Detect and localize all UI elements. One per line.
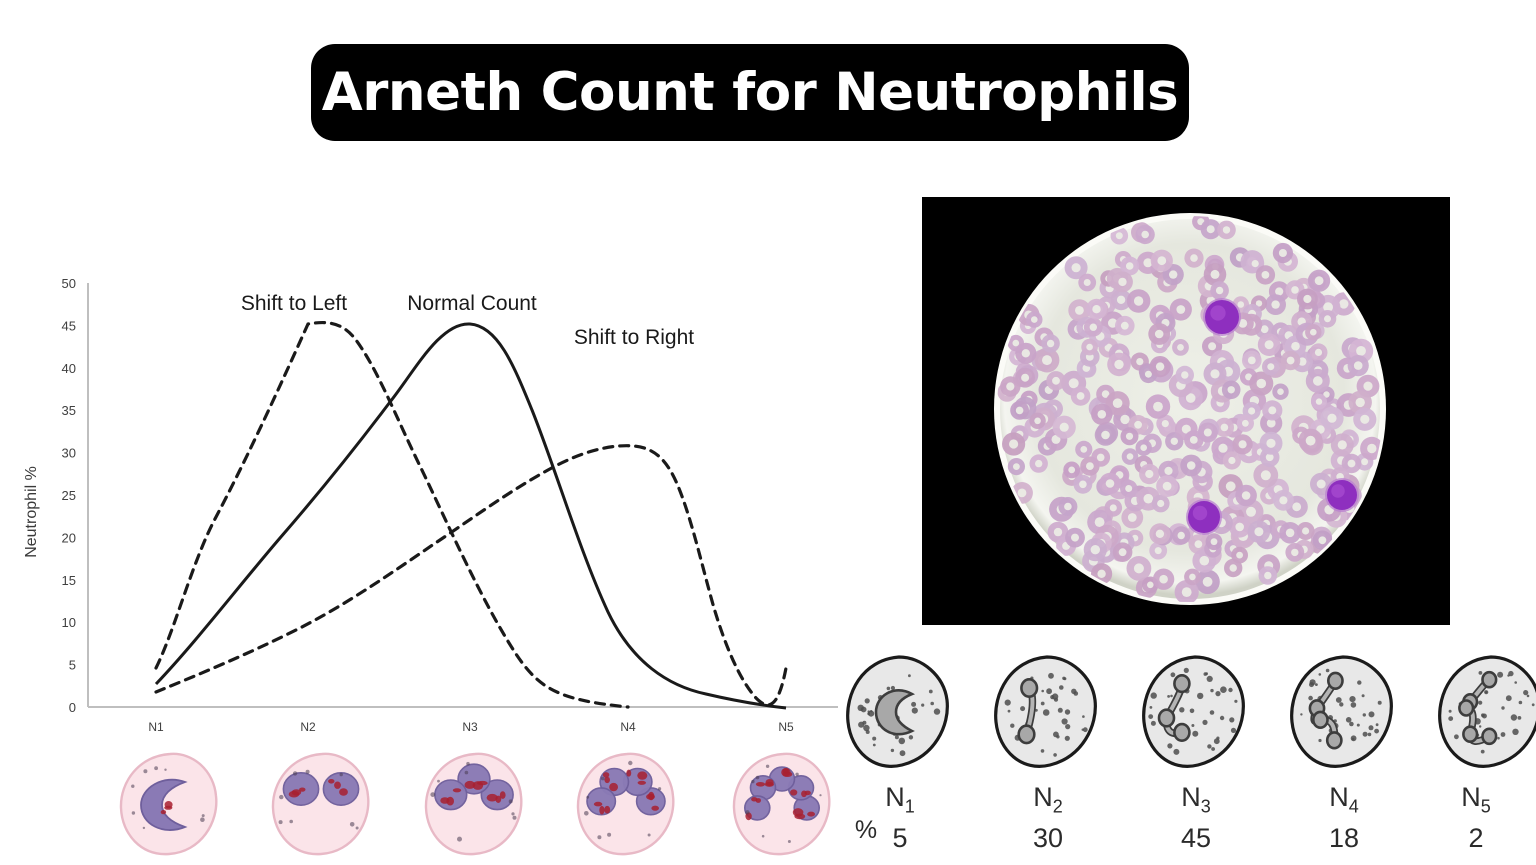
curve-shift-to-left <box>156 323 628 707</box>
gray-neutrophil-n5 <box>1432 652 1536 774</box>
micrograph-svg <box>922 197 1450 625</box>
red-blood-cell <box>1053 416 1076 439</box>
red-blood-cell <box>1107 353 1131 377</box>
red-blood-cell <box>1272 384 1288 400</box>
chart-svg: 05101520253035404550 N1N2N3N4N5 Neutroph… <box>0 262 860 732</box>
y-tick-label: 50 <box>62 276 76 291</box>
colored-neutrophil-row <box>100 748 840 860</box>
curve-label-1: Shift to Left <box>241 292 347 315</box>
gray-neutrophil-row <box>840 652 1536 780</box>
red-blood-cell <box>1319 310 1337 328</box>
y-tick-label: 15 <box>62 573 76 588</box>
red-blood-cell <box>1058 497 1077 516</box>
red-blood-cell <box>1172 526 1190 544</box>
title-banner: Arneth Count for Neutrophils <box>311 44 1189 141</box>
colored-neutrophil-svg <box>420 748 530 860</box>
arneth-count-chart: 05101520253035404550 N1N2N3N4N5 Neutroph… <box>0 262 860 732</box>
red-blood-cell <box>1210 281 1229 300</box>
red-blood-cell <box>1113 542 1133 562</box>
gray-neutrophil-svg <box>988 652 1106 774</box>
gray-neutrophil-svg <box>1136 652 1254 774</box>
red-blood-cell <box>1091 404 1112 425</box>
red-blood-cell <box>1242 351 1262 371</box>
y-tick-label: 10 <box>62 615 76 630</box>
red-blood-cell <box>1148 323 1170 345</box>
x-category-label: N1 <box>148 720 164 732</box>
red-blood-cell <box>1248 521 1270 543</box>
red-blood-cell <box>1000 376 1020 396</box>
percent-column-value: 30 <box>988 821 1108 855</box>
red-blood-cell <box>1265 294 1286 315</box>
y-tick-label: 45 <box>62 318 76 333</box>
red-blood-cell <box>1170 298 1192 320</box>
red-blood-cell <box>1237 415 1254 432</box>
red-blood-cell <box>1139 464 1159 484</box>
x-category-labels: N1N2N3N4N5 <box>148 720 794 732</box>
percent-column-value: 18 <box>1284 821 1404 855</box>
red-blood-cell <box>1348 355 1369 376</box>
red-blood-cell <box>1030 454 1048 472</box>
page-title: Arneth Count for Neutrophils <box>322 62 1178 123</box>
x-category-label: N4 <box>620 720 636 732</box>
red-blood-cell <box>1084 318 1103 337</box>
red-blood-cell <box>1259 566 1278 585</box>
red-blood-cell <box>1256 265 1275 284</box>
y-axis-title: Neutrophil % <box>23 466 40 558</box>
red-blood-cell <box>1099 473 1120 494</box>
red-blood-cell <box>1285 543 1304 562</box>
gray-neutrophil-svg <box>1432 652 1536 774</box>
red-blood-cell <box>1078 274 1096 292</box>
y-tick-label: 20 <box>62 530 76 545</box>
red-blood-cell <box>1008 458 1025 475</box>
red-blood-cell <box>1281 351 1300 370</box>
curve-label-2: Normal Count <box>407 292 537 315</box>
red-blood-cell <box>1121 427 1139 445</box>
red-blood-cell <box>1273 243 1293 263</box>
percent-column-N4: N418 <box>1284 782 1404 855</box>
y-tick-labels: 05101520253035404550 <box>62 276 76 715</box>
y-tick-label: 25 <box>62 488 76 503</box>
curve-label-3: Shift to Right <box>574 326 694 349</box>
red-blood-cell <box>1127 289 1151 313</box>
red-blood-cell <box>1262 400 1282 420</box>
red-blood-cell <box>1010 401 1029 420</box>
red-blood-cell <box>1305 324 1321 340</box>
red-blood-cell <box>1063 462 1080 479</box>
red-blood-cell <box>1136 225 1155 244</box>
percent-column-name: N1 <box>840 782 960 821</box>
colored-neutrophil-svg <box>267 748 377 860</box>
red-blood-cell <box>1029 413 1045 429</box>
curve-annotations: Shift to LeftNormal CountShift to Right <box>241 292 694 349</box>
red-blood-cell <box>1260 432 1283 455</box>
y-tick-label: 35 <box>62 403 76 418</box>
red-blood-cell <box>1084 538 1107 561</box>
red-blood-cell <box>1306 369 1330 393</box>
gray-neutrophil-n3 <box>1136 652 1254 774</box>
percent-column-N3: N345 <box>1136 782 1256 855</box>
gray-neutrophil-n2 <box>988 652 1106 774</box>
percent-column-name: N3 <box>1136 782 1256 821</box>
red-blood-cell <box>1146 394 1170 418</box>
white-blood-cell <box>1203 298 1241 336</box>
red-blood-cell <box>1262 358 1280 376</box>
red-blood-cell <box>1206 533 1223 550</box>
colored-neutrophil-n1 <box>115 748 225 860</box>
y-tick-label: 40 <box>62 361 76 376</box>
red-blood-cell <box>1156 475 1178 497</box>
colored-neutrophil-n2 <box>267 748 377 860</box>
y-tick-label: 0 <box>69 700 76 715</box>
red-blood-cell <box>1180 455 1202 477</box>
percent-column-name: N4 <box>1284 782 1404 821</box>
red-blood-cell <box>1074 475 1093 494</box>
percent-column-value: 45 <box>1136 821 1256 855</box>
gray-neutrophil-svg <box>840 652 958 774</box>
red-blood-cell <box>1172 339 1189 356</box>
percent-column-N5: N52 <box>1416 782 1536 855</box>
red-blood-cell <box>1151 250 1173 272</box>
y-tick-label: 30 <box>62 446 76 461</box>
red-blood-cell <box>1320 407 1343 430</box>
red-blood-cell <box>1095 424 1117 446</box>
red-blood-cell <box>1152 495 1170 513</box>
percent-column-name: N2 <box>988 782 1108 821</box>
colored-neutrophil-svg <box>115 748 225 860</box>
percent-column-name: N5 <box>1416 782 1536 821</box>
red-blood-cell <box>1071 386 1091 406</box>
red-blood-cell <box>1311 394 1327 410</box>
white-blood-cell <box>1186 499 1222 535</box>
gray-neutrophil-svg <box>1284 652 1402 774</box>
red-blood-cell <box>1176 366 1194 384</box>
red-blood-cell <box>1105 499 1123 517</box>
colored-neutrophil-n4 <box>572 748 682 860</box>
red-blood-cell <box>1299 429 1323 453</box>
red-blood-cell <box>1198 423 1218 443</box>
gray-neutrophil-n1 <box>840 652 958 774</box>
red-blood-cell <box>1115 316 1135 336</box>
white-blood-cell <box>1325 478 1359 512</box>
red-blood-cell <box>1231 547 1248 564</box>
red-blood-cell <box>1279 522 1301 544</box>
y-tick-label: 5 <box>69 658 76 673</box>
red-blood-cell <box>1150 356 1171 377</box>
red-blood-cell <box>1223 451 1241 469</box>
red-blood-cell <box>1184 249 1203 268</box>
red-blood-cell <box>1235 485 1257 507</box>
red-blood-cell <box>1081 339 1098 356</box>
red-blood-cell <box>1075 441 1092 458</box>
x-category-label: N3 <box>462 720 478 732</box>
red-blood-cell <box>1046 371 1065 390</box>
red-blood-cell <box>1308 270 1330 292</box>
x-category-label: N5 <box>778 720 794 732</box>
colored-neutrophil-svg <box>572 748 682 860</box>
red-blood-cell <box>1184 569 1201 586</box>
red-blood-cell <box>1026 311 1042 327</box>
red-blood-cell <box>1153 569 1174 590</box>
red-blood-cell <box>1091 448 1110 467</box>
colored-neutrophil-n5 <box>728 748 838 860</box>
red-blood-cell <box>1065 528 1085 548</box>
percent-column-value: 5 <box>840 821 960 855</box>
red-blood-cell <box>1253 463 1278 488</box>
red-blood-cell <box>1086 299 1107 320</box>
red-blood-cell <box>1002 432 1025 455</box>
red-blood-cell <box>1217 221 1236 240</box>
colored-neutrophil-svg <box>728 748 838 860</box>
red-blood-cell <box>1149 523 1170 544</box>
percent-column-value: 2 <box>1416 821 1536 855</box>
red-blood-cell <box>1297 289 1318 310</box>
x-category-label: N2 <box>300 720 316 732</box>
red-blood-cell <box>1353 408 1376 431</box>
percent-column-N1: N15 <box>840 782 960 855</box>
red-blood-cell <box>1136 440 1152 456</box>
red-blood-cell <box>1258 333 1281 356</box>
colored-neutrophil-n3 <box>420 748 530 860</box>
gray-neutrophil-n4 <box>1284 652 1402 774</box>
arneth-percent-table: % N15N230N345N418N52 <box>840 782 1536 858</box>
percent-column-N2: N230 <box>988 782 1108 855</box>
red-blood-cell <box>1112 272 1133 293</box>
red-blood-cell <box>1222 381 1241 400</box>
red-blood-cell <box>1041 334 1059 352</box>
infographic-page: Arneth Count for Neutrophils 05101520253… <box>0 0 1536 864</box>
red-blood-cell <box>1273 490 1294 511</box>
blood-smear-micrograph <box>922 197 1450 625</box>
